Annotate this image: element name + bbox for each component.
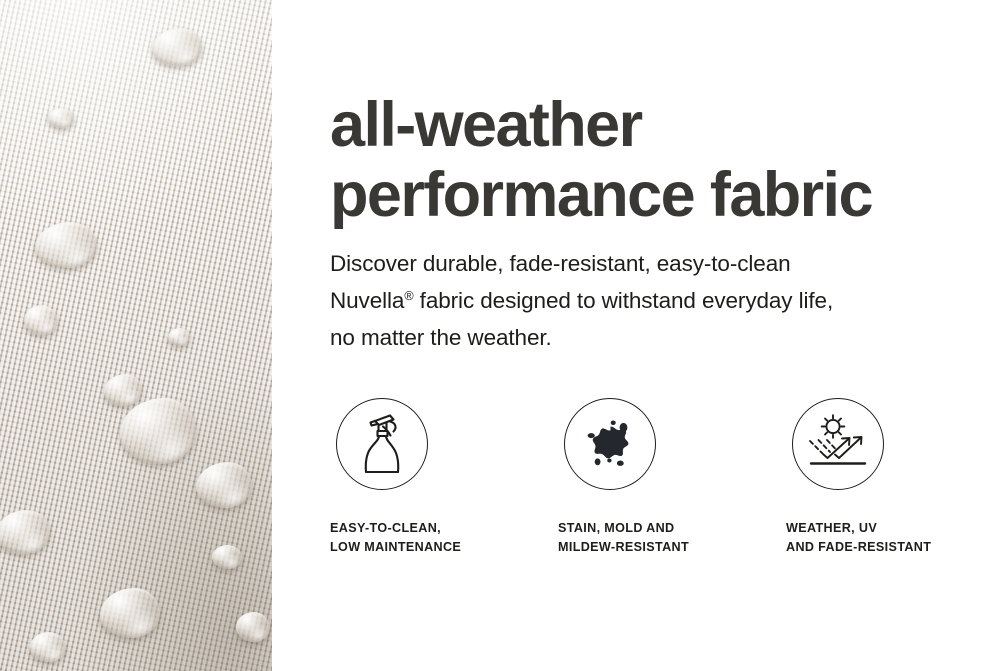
- sun-uv-reflect-icon: [792, 398, 884, 490]
- feature-easy-to-clean: EASY-TO-CLEAN, LOW MAINTENANCE: [330, 398, 545, 557]
- water-droplet: [212, 545, 242, 569]
- fabric-lighting-overlay: [0, 0, 272, 671]
- fabric-photo-panel: [0, 0, 272, 671]
- page-title: all-weather performance fabric: [330, 90, 990, 230]
- brand-name: Nuvella: [330, 288, 404, 313]
- water-droplet: [24, 305, 58, 335]
- feature-stain-resistant: STAIN, MOLD AND MILDEW-RESISTANT: [558, 398, 773, 557]
- water-droplet: [0, 510, 50, 554]
- promo-description: Discover durable, fade-resistant, easy-t…: [330, 245, 970, 356]
- description-line-2: fabric designed to withstand everyday li…: [414, 288, 834, 313]
- water-droplet: [100, 588, 160, 638]
- water-droplet: [196, 462, 252, 508]
- spray-bottle-icon: [336, 398, 428, 490]
- registered-trademark-icon: ®: [404, 289, 413, 303]
- feature-icon-row: EASY-TO-CLEAN, LOW MAINTENANCE STAIN, M: [330, 398, 990, 568]
- feature-caption: EASY-TO-CLEAN, LOW MAINTENANCE: [330, 490, 545, 557]
- water-droplet: [236, 612, 270, 642]
- water-droplet: [48, 108, 74, 128]
- feature-caption: WEATHER, UV AND FADE-RESISTANT: [786, 490, 1001, 557]
- feature-weather-uv-resistant: WEATHER, UV AND FADE-RESISTANT: [786, 398, 1001, 557]
- description-line-3: no matter the weather.: [330, 325, 552, 350]
- water-droplet: [168, 328, 190, 346]
- water-droplet: [120, 398, 196, 464]
- promo-content-column: all-weather performance fabric Discover …: [330, 0, 990, 671]
- stain-splat-icon: [564, 398, 656, 490]
- feature-caption: STAIN, MOLD AND MILDEW-RESISTANT: [558, 490, 773, 557]
- water-droplet: [30, 632, 66, 662]
- water-droplet: [152, 28, 202, 66]
- description-line-1: Discover durable, fade-resistant, easy-t…: [330, 251, 791, 276]
- water-droplet: [104, 374, 142, 406]
- all-weather-fabric-promo-page: all-weather performance fabric Discover …: [0, 0, 1005, 671]
- water-droplet: [35, 222, 97, 268]
